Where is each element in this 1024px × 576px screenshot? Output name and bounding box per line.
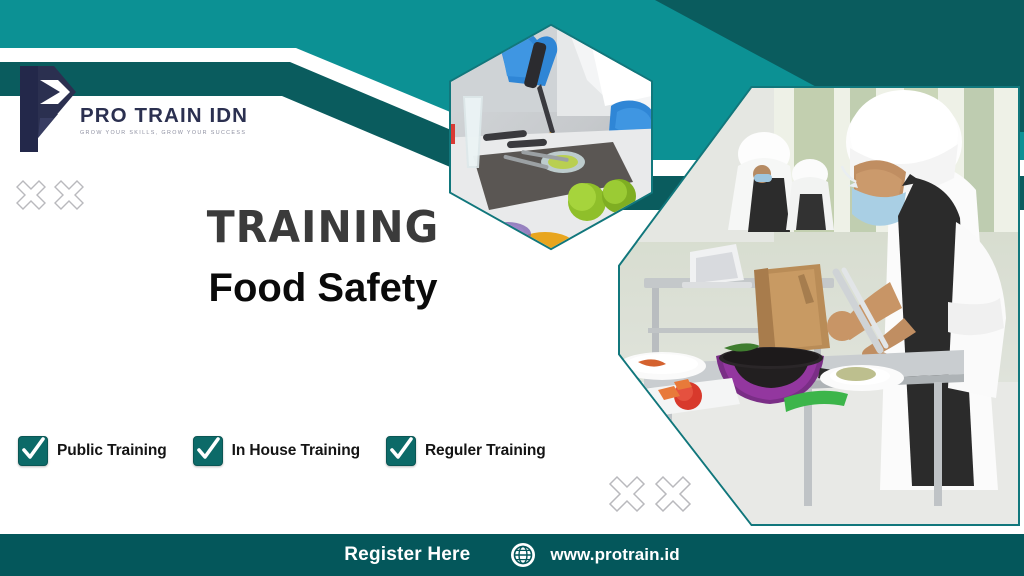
checkmark-icon (389, 436, 413, 464)
culinary-kitchen-photo (604, 82, 1024, 530)
checkbox-reguler-training[interactable] (386, 436, 416, 466)
poster-canvas: PRO TRAIN IDN GROW YOUR SKILLS, GROW YOU… (0, 0, 1024, 576)
checkbox-public-training[interactable] (18, 436, 48, 466)
website-group[interactable]: www.protrain.id (510, 542, 679, 568)
checkbox-in-house-training[interactable] (193, 436, 223, 466)
x-cross-icon (55, 181, 83, 209)
register-here-label[interactable]: Register Here (344, 544, 470, 566)
x-cross-icon (17, 181, 45, 209)
checkmark-icon (196, 436, 220, 464)
headline-primary: TRAINING (23, 206, 624, 250)
option-label: Public Training (57, 442, 167, 460)
option-label: In House Training (232, 442, 360, 460)
option-label: Reguler Training (425, 442, 546, 460)
band-bright-left (0, 0, 380, 46)
headline-secondary: Food Safety (0, 268, 646, 308)
option-reguler-training[interactable]: Reguler Training (386, 436, 546, 466)
training-type-options: Public Training In House Training Regule… (18, 436, 546, 466)
footer-bar: Register Here www.protrain.id (0, 534, 1024, 576)
brand-name: PRO TRAIN IDN (80, 106, 248, 127)
headline-block: TRAINING Food Safety (0, 206, 646, 308)
globe-icon (510, 542, 536, 568)
brand-tagline: GROW YOUR SKILLS, GROW YOUR SUCCESS (80, 131, 248, 136)
website-url[interactable]: www.protrain.id (550, 545, 679, 565)
checkmark-icon (21, 436, 45, 464)
protrain-logo-mark (14, 58, 80, 158)
option-in-house-training[interactable]: In House Training (193, 436, 360, 466)
brand-logo[interactable]: PRO TRAIN IDN GROW YOUR SKILLS, GROW YOU… (14, 58, 248, 158)
option-public-training[interactable]: Public Training (18, 436, 167, 466)
